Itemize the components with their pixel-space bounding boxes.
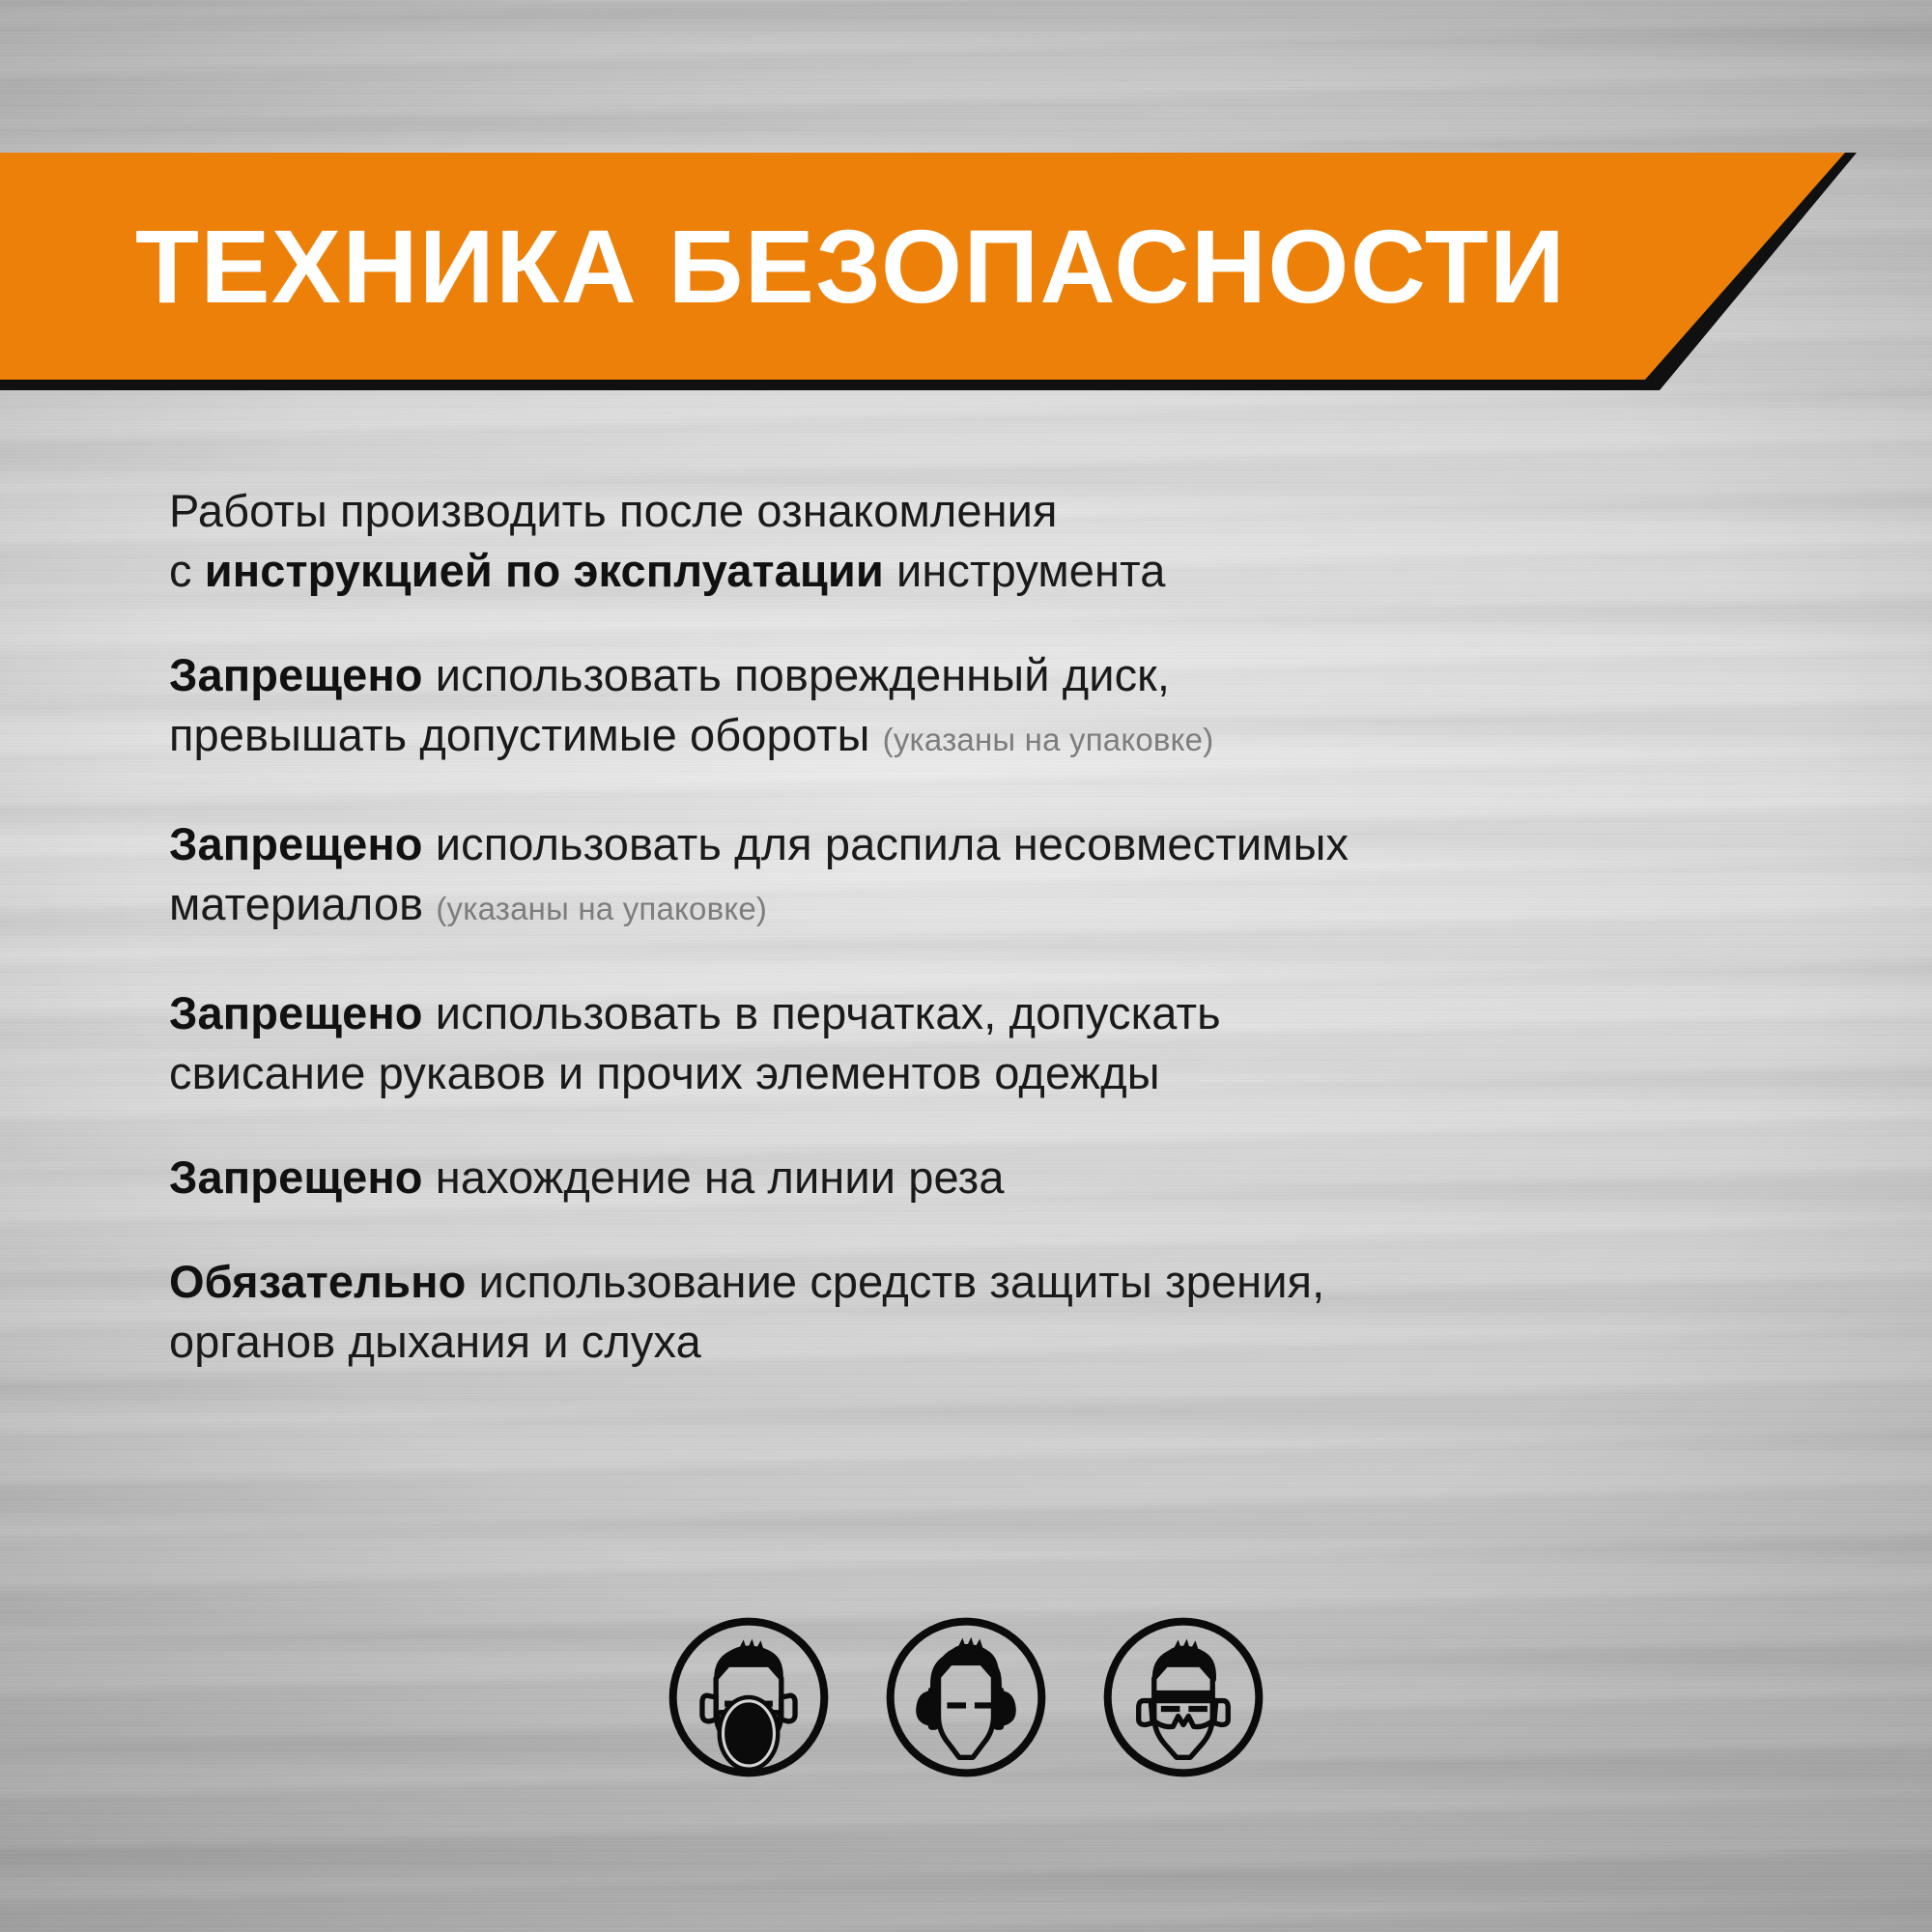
header-banner: ТЕХНИКА БЕЗОПАСНОСТИ xyxy=(0,153,1860,390)
rule-emphasis: инструкцией по эксплуатации xyxy=(205,545,884,596)
rule-line-2: превышать допустимые обороты xyxy=(169,709,869,760)
rule-lead-label: Запрещено xyxy=(169,1151,423,1203)
respirator-icon xyxy=(663,1611,835,1783)
rule-line-1: нахождение на линии реза xyxy=(423,1151,1005,1203)
rule-line-1: использовать для распила несовместимых xyxy=(423,818,1349,869)
rule-line-1: Работы производить после ознакомления xyxy=(169,485,1058,536)
rule-cut-line: Запрещено нахождение на линии реза xyxy=(169,1148,1869,1207)
rule-line-1: использовать поврежденный диск, xyxy=(423,649,1170,700)
rule-damaged-disc: Запрещено использовать поврежденный диск… xyxy=(169,645,1869,770)
rule-note: (указаны на упаковке) xyxy=(883,722,1214,757)
rule-lead-label: Обязательно xyxy=(169,1256,466,1307)
safety-poster: ТЕХНИКА БЕЗОПАСНОСТИ Работы производить … xyxy=(0,0,1932,1932)
page-title: ТЕХНИКА БЕЗОПАСНОСТИ xyxy=(135,153,1566,380)
rule-lead-label: Запрещено xyxy=(169,649,423,700)
rule-line-1: использование средств защиты зрения, xyxy=(466,1256,1324,1307)
rule-line-2: материалов xyxy=(169,878,423,929)
safety-goggles-icon xyxy=(1097,1611,1269,1783)
rule-incompatible-materials: Запрещено использовать для распила несов… xyxy=(169,814,1869,939)
ear-protection-icon xyxy=(880,1611,1052,1783)
rule-ppe-required: Обязательно использование средств защиты… xyxy=(169,1252,1869,1372)
rule-line-2-prefix: с xyxy=(169,545,205,596)
rule-line-2-suffix: инструмента xyxy=(884,545,1166,596)
rule-instruction: Работы производить после ознакомления с … xyxy=(169,481,1869,601)
rule-line-2: свисание рукавов и прочих элементов одеж… xyxy=(169,1047,1160,1098)
rule-line-2: органов дыхания и слуха xyxy=(169,1316,701,1367)
rule-lead-label: Запрещено xyxy=(169,818,423,869)
safety-rules-list: Работы производить после ознакомления с … xyxy=(169,481,1869,1372)
rule-note: (указаны на упаковке) xyxy=(436,891,767,926)
rule-gloves-clothing: Запрещено использовать в перчатках, допу… xyxy=(169,983,1869,1103)
ppe-pictogram-row xyxy=(0,1611,1932,1783)
rule-line-1: использовать в перчатках, допускать xyxy=(423,987,1221,1038)
rule-lead-label: Запрещено xyxy=(169,987,423,1038)
